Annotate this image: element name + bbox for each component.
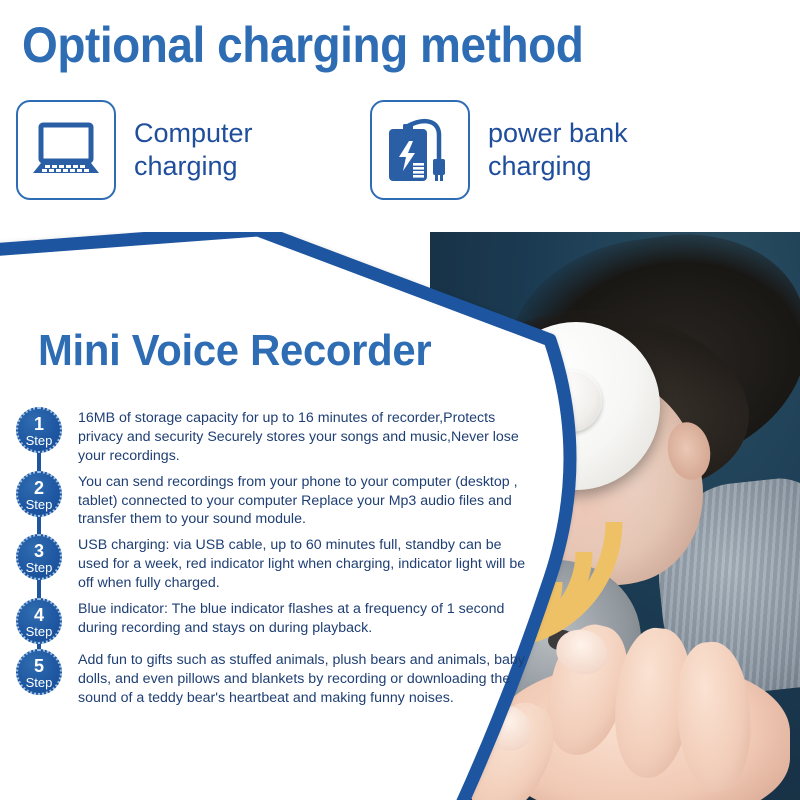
product-infographic: Mini Voice Recorder 1 Step 16MB of stora… <box>0 0 800 800</box>
step-badge-4: 4 Step <box>16 598 62 644</box>
laptop-icon-box <box>16 100 116 200</box>
step-description: You can send recordings from your phone … <box>78 471 540 530</box>
step-number: 5 <box>34 657 44 675</box>
step-word: Step <box>26 625 53 638</box>
step-item: 5 Step Add fun to gifts such as stuffed … <box>0 649 540 708</box>
steps-list: 1 Step 16MB of storage capacity for up t… <box>0 407 540 713</box>
step-description: Add fun to gifts such as stuffed animals… <box>78 649 540 708</box>
step-description: USB charging: via USB cable, up to 60 mi… <box>78 534 540 593</box>
step-number: 2 <box>34 479 44 497</box>
step-item: 4 Step Blue indicator: The blue indicato… <box>0 598 540 644</box>
power-bank-icon <box>383 115 457 185</box>
step-badge-2: 2 Step <box>16 471 62 517</box>
step-badge-5: 5 Step <box>16 649 62 695</box>
step-description: Blue indicator: The blue indicator flash… <box>78 598 540 638</box>
charging-option-label: Computer charging <box>134 117 253 183</box>
step-item: 1 Step 16MB of storage capacity for up t… <box>0 407 540 466</box>
panel-content: Mini Voice Recorder 1 Step 16MB of stora… <box>0 232 540 800</box>
step-word: Step <box>26 676 53 689</box>
step-badge-1: 1 Step <box>16 407 62 453</box>
power-bank-icon-box <box>370 100 470 200</box>
page-title: Optional charging method <box>22 16 583 74</box>
step-badge-column: 2 Step <box>0 471 78 517</box>
charging-option-label: power bank charging <box>488 117 628 183</box>
step-badge-column: 4 Step <box>0 598 78 644</box>
charging-option-computer: Computer charging <box>16 100 253 200</box>
step-item: 3 Step USB charging: via USB cable, up t… <box>0 534 540 593</box>
step-badge-column: 3 Step <box>0 534 78 580</box>
step-word: Step <box>26 498 53 511</box>
step-number: 1 <box>34 415 44 433</box>
step-number: 3 <box>34 542 44 560</box>
charging-option-power-bank: power bank charging <box>370 100 628 200</box>
laptop-icon <box>29 121 103 179</box>
step-description: 16MB of storage capacity for up to 16 mi… <box>78 407 540 466</box>
step-word: Step <box>26 561 53 574</box>
step-badge-3: 3 Step <box>16 534 62 580</box>
header-section: Optional charging method <box>0 0 800 232</box>
product-title: Mini Voice Recorder <box>38 326 431 376</box>
step-number: 4 <box>34 606 44 624</box>
step-badge-column: 5 Step <box>0 649 78 695</box>
step-word: Step <box>26 434 53 447</box>
step-item: 2 Step You can send recordings from your… <box>0 471 540 530</box>
step-badge-column: 1 Step <box>0 407 78 453</box>
